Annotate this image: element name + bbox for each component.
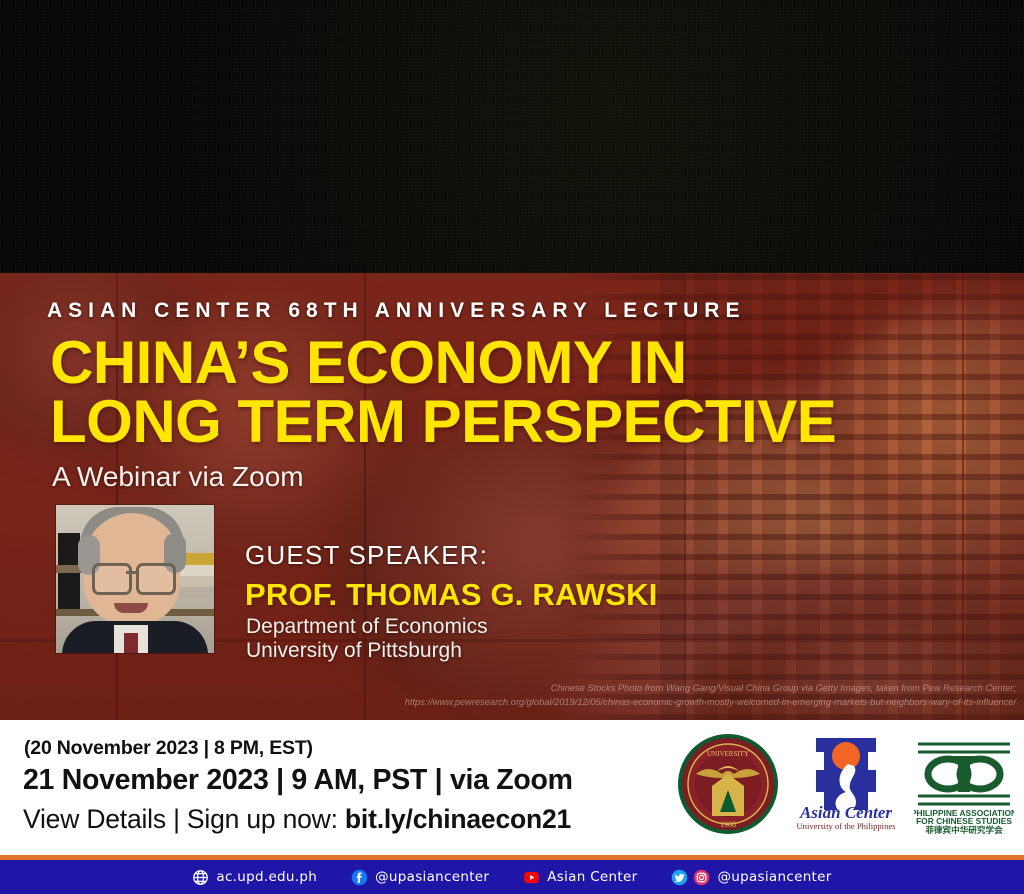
ticker-deal: 770 [930,128,1022,152]
speaker-portrait [56,505,214,653]
ticker-name: 江特电机 [296,41,384,71]
volume-bar-chart [0,0,282,273]
ticker-high: 602 [490,70,568,96]
change-arrow: ↑ [612,186,638,210]
pacs-logo: PHILIPPINE ASSOCIATION FOR CHINESE STUDI… [914,734,1014,834]
twitter-icon [671,869,688,886]
stock-ticker-board: 股票名称 成交 最高 最低 *ST东网 201 203 198 江特电机 503… [282,0,1024,273]
change-value: 014 [642,186,704,212]
ticker-deal: 393 [400,99,478,125]
ticker-deal: 2352 [390,157,478,183]
change-arrow: ↑ [612,215,638,239]
chart-tick-1: 11:30 [40,266,55,272]
change-column: 涨跌 ↓ 001 ↑ 006 ↓ 010 ↑ 003 ↑ 033 ↑ 008 ↑… [612,0,732,273]
eyebrow-text: ASIAN CENTER 68TH ANNIVERSARY LECTURE [47,299,745,323]
ticker-name: 海 利 得 [762,41,910,71]
ticker-deal: 503 [400,41,478,67]
social-facebook[interactable]: @upasiancenter [334,869,506,886]
ticker-name: 合肥城建 [762,99,850,129]
registration-line[interactable]: View Details | Sign up now: bit.ly/china… [23,804,571,835]
ticker-high: 507 [490,41,568,67]
ticker-name: 达 意 隆 [762,128,910,158]
poster-content: ASIAN CENTER 68TH ANNIVERSARY LECTURE CH… [0,273,1024,720]
youtube-icon [523,869,540,886]
change-value: 003 [642,99,704,125]
svg-text:UNIVERSITY: UNIVERSITY [707,750,749,758]
globe-icon [192,869,209,886]
asian-center-logo: Asian Center University of the Philippin… [792,734,900,834]
photo-credit-line-1: Chinese Stocks Photo from Wang Gang/Visu… [0,681,1016,695]
photo-credit: Chinese Stocks Photo from Wang Gang/Visu… [0,681,1024,709]
social-website[interactable]: ac.upd.edu.ph [175,869,334,886]
ticker-deal: 406 [930,41,1022,67]
social-media-bar: ac.upd.edu.ph @upasiancenter Asian Cente… [0,860,1024,894]
registration-prefix: View Details | Sign up now: [23,804,345,834]
change-arrow: ↑ [612,245,638,269]
ticker-name: 大立科技 [762,245,850,273]
board-bottom-red-row: 海得控制 1100 1107 1060 ↑ 008 大立科技 873 [282,243,1024,273]
svg-text:菲律宾中华研究学会: 菲律宾中华研究学会 [925,824,1003,834]
social-facebook-label: @upasiancenter [375,869,489,885]
ticker-name: ST准油 [788,70,863,100]
change-value: 001 [642,11,704,37]
ticker-name: 纳思达 [324,157,390,187]
event-details-footer: (20 November 2023 | 8 PM, EST) 21 Novemb… [0,720,1024,855]
ticker-deal: 1100 [400,245,478,271]
stock-board-photo: 11:30 13:00 股票名称 成交 最高 最低 *ST东网 201 203 … [0,0,1024,273]
change-arrow: ↓ [612,11,638,35]
webinar-poster: 11:30 13:00 股票名称 成交 最高 最低 *ST东网 201 203 … [0,0,1024,894]
ticker-deal: 1949 [930,11,1022,37]
ticker-name: 海得控制 [296,245,384,273]
partner-logos: UNIVERSITY 1908 Asian Center University … [678,734,1014,834]
stock-chart-panel: 11:30 13:00 [0,0,282,273]
ticker-high: 203 [490,11,568,37]
social-twitter-instagram[interactable]: @upasiancenter [654,869,848,886]
title-line-1: CHINA’S ECONOMY IN [50,333,950,392]
ticker-deal: 1366 [920,215,1022,241]
ticker-high: 396 [490,99,568,125]
change-value: 018 [642,215,704,241]
ticker-high: 829 [490,215,568,241]
photo-credit-line-2: https://www.pewresearch.org/global/2019/… [0,695,1016,709]
ticker-high: 2375 [480,157,568,183]
change-value: 006 [642,41,704,67]
ticker-name: *ST东网 [296,11,383,41]
chart-tick-2: 13:00 [150,266,165,272]
ticker-name: 宏达新材 [762,186,850,216]
change-value: 008 [642,245,704,271]
speaker-university: University of Pittsburgh [246,639,462,663]
change-arrow: ↑ [612,99,638,123]
event-datetime: 21 November 2023 | 9 AM, PST | via Zoom [23,764,573,797]
speaker-department: Department of Economics [246,615,488,639]
page-title: CHINA’S ECONOMY IN LONG TERM PERSPECTIVE [50,333,950,451]
up-seal-logo: UNIVERSITY 1908 [678,734,778,834]
ticker-name: 御银股份 [296,70,384,100]
social-website-label: ac.upd.edu.ph [216,869,317,885]
ticker-high: 1107 [490,245,568,271]
social-youtube-label: Asian Center [547,869,637,885]
ticker-deal: 873 [930,245,1022,271]
ticker-name: 云海金属 [296,215,384,245]
svg-text:University of the Philippines: University of the Philippines [796,821,896,831]
instagram-icon [693,869,710,886]
change-arrow: ↑ [612,128,638,152]
facebook-icon [351,869,368,886]
change-value: 010 [642,70,704,96]
social-instagram-label: @upasiancenter [717,869,831,885]
title-line-2: LONG TERM PERSPECTIVE [50,392,950,451]
ticker-deal: 144 [930,157,1022,183]
svg-text:1908: 1908 [720,820,736,829]
ticker-deal: 201 [400,11,478,37]
ticker-name: 中航光电 [296,128,384,158]
alternate-timezone: (20 November 2023 | 8 PM, EST) [24,737,313,760]
ticker-high: 489 [490,186,568,212]
ticker-panel-right: 股票名称 成交 国统股份 1949 海 利 得 406 ST准油 582 合肥城… [734,0,1024,273]
change-arrow: ↑ [612,157,638,181]
ticker-deal: 487 [400,186,478,212]
ticker-high: 3252 [480,128,568,154]
registration-link[interactable]: bit.ly/chinaecon21 [345,804,571,834]
svg-text:FOR CHINESE STUDIES: FOR CHINESE STUDIES [916,816,1012,826]
guest-speaker-label: GUEST SPEAKER: [245,540,488,571]
change-value: 008 [642,157,704,183]
ticker-deal: 589 [400,70,478,96]
speaker-name: PROF. THOMAS G. RAWSKI [245,577,658,613]
ticker-deal: 3235 [390,128,478,154]
svg-text:Asian Center: Asian Center [799,803,892,822]
ticker-deal: 823 [400,215,478,241]
change-arrow: ↓ [612,70,638,94]
ticker-deal: 582 [930,70,1022,96]
change-arrow: ↑ [612,41,638,65]
subtitle-text: A Webinar via Zoom [52,461,304,493]
ticker-name: 南洋股份 [762,215,850,245]
ticker-name: *ST飞马 [772,157,859,187]
ticker-name: 延华智能 [296,99,384,129]
ticker-deal: 655 [930,186,1022,212]
ticker-name: 国统股份 [762,11,850,41]
change-value: 033 [642,128,704,154]
social-youtube[interactable]: Asian Center [506,869,654,886]
